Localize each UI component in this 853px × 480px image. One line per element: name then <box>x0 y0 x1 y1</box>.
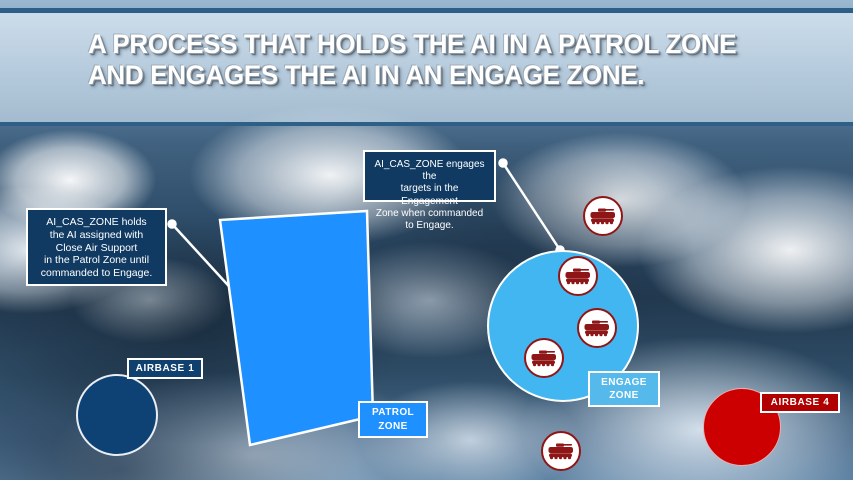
tank-icon-marker-5[interactable] <box>541 431 581 471</box>
page-title: A process that holds the AI in a patrol … <box>88 29 760 91</box>
slide-canvas: A process that holds the AI in a patrol … <box>0 0 853 480</box>
tank-icon <box>530 349 558 367</box>
tank-icon <box>589 207 617 225</box>
tank-icon <box>547 442 575 460</box>
patrol-zone-shape[interactable] <box>215 208 375 448</box>
tank-icon-marker-1[interactable] <box>583 196 623 236</box>
tank-icon <box>583 319 611 337</box>
airbase-1-label[interactable]: AIRBASE 1 <box>127 358 203 379</box>
engage-callout-box[interactable]: AI_CAS_ZONE engages the targets in the E… <box>363 150 496 202</box>
patrol-zone-polygon <box>220 211 373 445</box>
airbase-1-marker[interactable] <box>76 374 158 456</box>
title-band: A process that holds the AI in a patrol … <box>0 8 853 126</box>
patrol-zone-label[interactable]: PATROL ZONE <box>358 401 428 438</box>
engage-zone-label[interactable]: ENGAGE ZONE <box>588 371 660 407</box>
tank-icon <box>564 267 592 285</box>
patrol-callout-box[interactable]: AI_CAS_ZONE holds the AI assigned with C… <box>26 208 167 286</box>
tank-icon-marker-4[interactable] <box>524 338 564 378</box>
tank-icon-marker-2[interactable] <box>558 256 598 296</box>
airbase-4-label[interactable]: AIRBASE 4 <box>760 392 840 413</box>
tank-icon-marker-3[interactable] <box>577 308 617 348</box>
